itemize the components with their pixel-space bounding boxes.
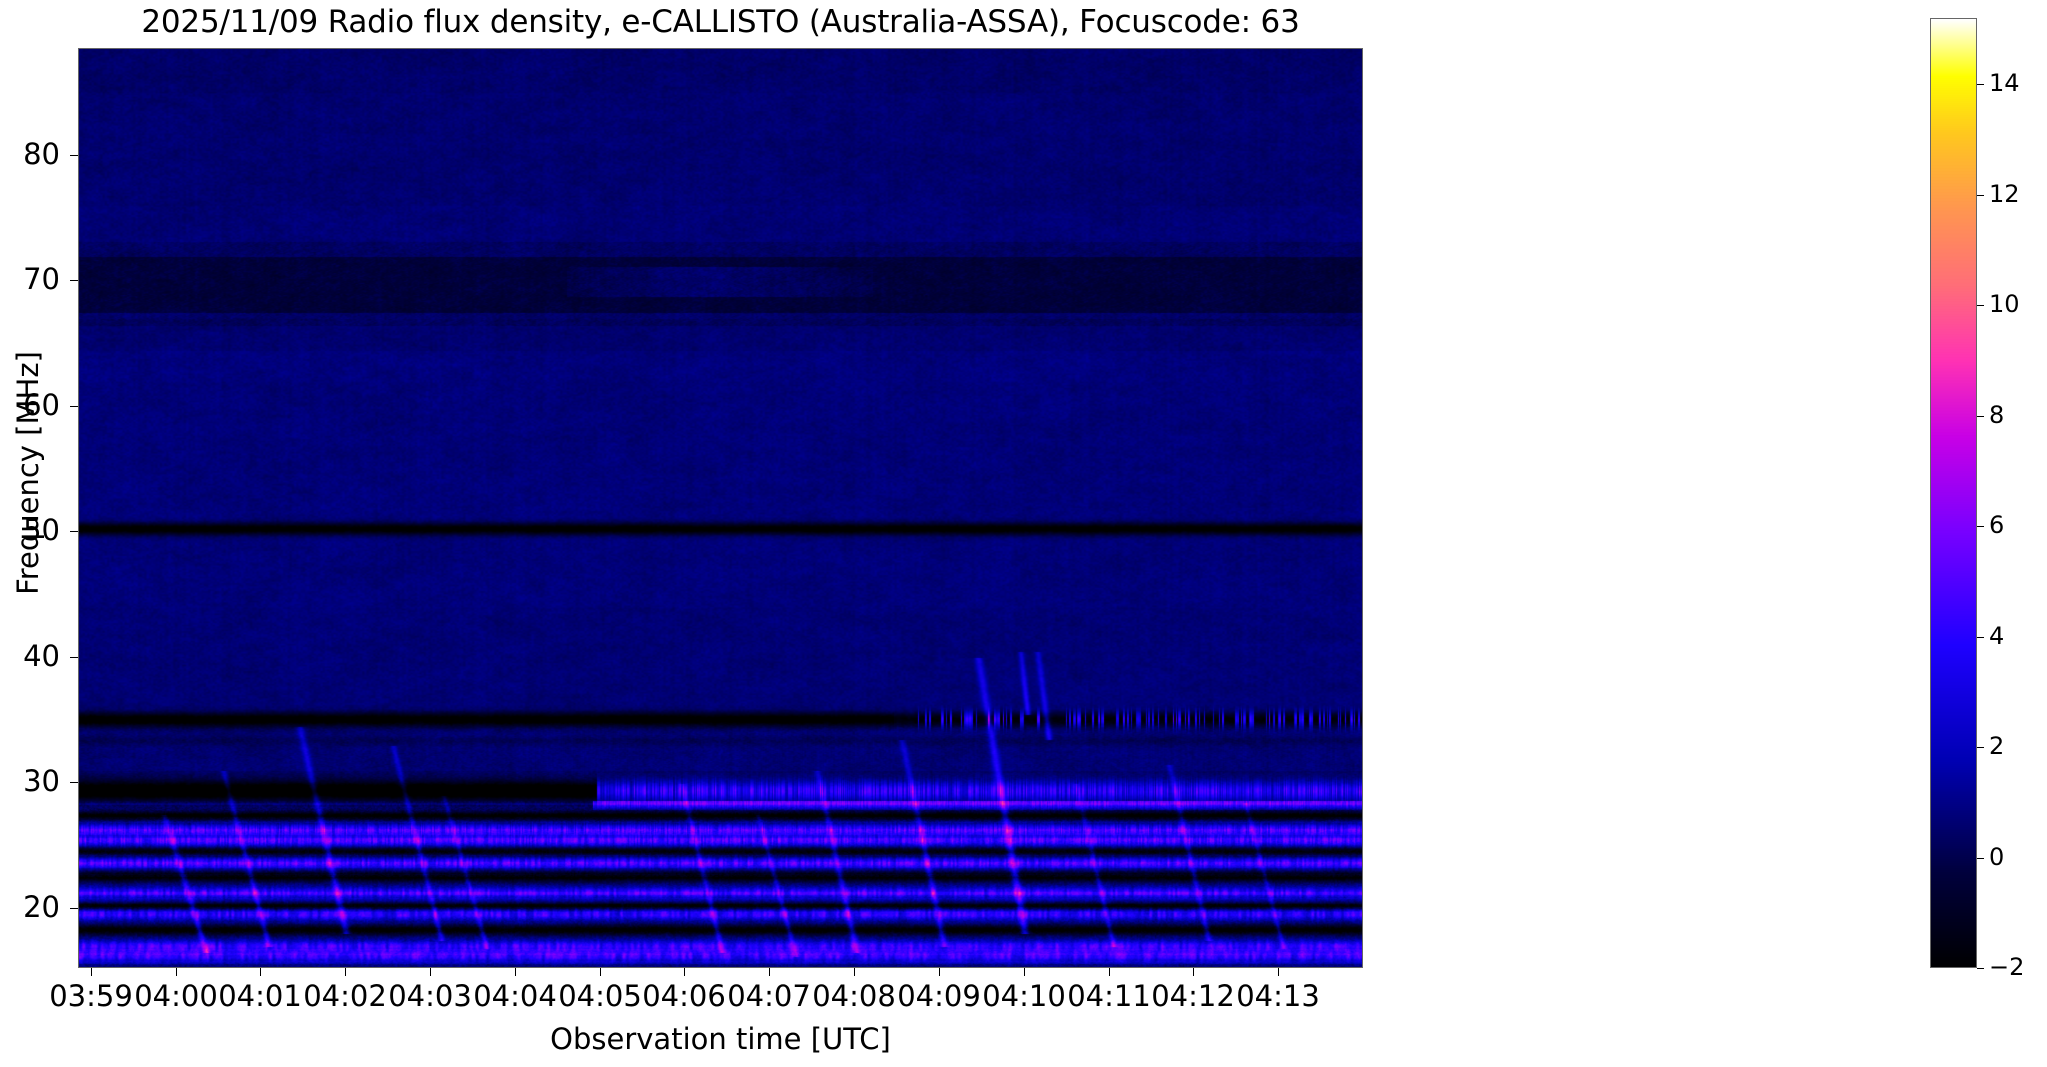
x-tick-mark — [345, 968, 346, 976]
y-tick-label: 20 — [0, 893, 60, 922]
colorbar-tick-label: 8 — [1989, 403, 2004, 427]
colorbar-tick-mark — [1977, 305, 1984, 306]
x-tick-mark — [1193, 968, 1194, 976]
colorbar-tick-mark — [1977, 84, 1984, 85]
colorbar-tick-mark — [1977, 858, 1984, 859]
colorbar-tick-mark — [1977, 195, 1984, 196]
y-tick-label: 80 — [0, 140, 60, 169]
x-tick-mark — [769, 968, 770, 976]
x-tick-mark — [176, 968, 177, 976]
colorbar-tick-label: 4 — [1989, 624, 2004, 648]
colorbar-tick-label: 0 — [1989, 845, 2004, 869]
y-tick-label: 60 — [0, 391, 60, 420]
y-tick-mark — [70, 908, 78, 909]
x-tick-mark — [430, 968, 431, 976]
colorbar-tick-label: −2 — [1989, 955, 2024, 979]
y-tick-label: 50 — [0, 516, 60, 545]
y-tick-label: 70 — [0, 265, 60, 294]
y-tick-mark — [70, 155, 78, 156]
y-tick-mark — [70, 657, 78, 658]
x-tick-mark — [854, 968, 855, 976]
x-tick-mark — [1024, 968, 1025, 976]
spectrogram-axes[interactable] — [78, 48, 1363, 968]
x-tick-mark — [91, 968, 92, 976]
colorbar-label: dB above background — [2043, 232, 2047, 752]
x-tick-label: 04:13 — [1178, 982, 1378, 1011]
colorbar-gradient — [1931, 19, 1977, 968]
x-tick-mark — [260, 968, 261, 976]
x-tick-mark — [939, 968, 940, 976]
colorbar-tick-label: 14 — [1989, 71, 2020, 95]
y-tick-mark — [70, 531, 78, 532]
colorbar-tick-mark — [1977, 526, 1984, 527]
y-tick-mark — [70, 406, 78, 407]
colorbar-tick-mark — [1977, 637, 1984, 638]
y-tick-label: 40 — [0, 642, 60, 671]
colorbar-axes[interactable] — [1930, 18, 1977, 968]
colorbar-tick-label: 10 — [1989, 292, 2020, 316]
colorbar-tick-label: 12 — [1989, 182, 2020, 206]
colorbar-tick-mark — [1977, 747, 1984, 748]
x-tick-mark — [1278, 968, 1279, 976]
y-tick-mark — [70, 280, 78, 281]
x-axis-label: Observation time [UTC] — [78, 1022, 1363, 1056]
colorbar-tick-label: 2 — [1989, 734, 2004, 758]
colorbar-tick-label: 6 — [1989, 513, 2004, 537]
spectrogram-image — [79, 49, 1363, 968]
y-tick-label: 30 — [0, 767, 60, 796]
x-tick-mark — [600, 968, 601, 976]
colorbar-tick-mark — [1977, 968, 1984, 969]
x-tick-mark — [1109, 968, 1110, 976]
colorbar-tick-mark — [1977, 416, 1984, 417]
figure-canvas: 2025/11/09 Radio flux density, e-CALLIST… — [0, 0, 2047, 1067]
x-tick-mark — [684, 968, 685, 976]
plot-title: 2025/11/09 Radio flux density, e-CALLIST… — [78, 2, 1363, 42]
y-tick-mark — [70, 782, 78, 783]
x-tick-mark — [515, 968, 516, 976]
